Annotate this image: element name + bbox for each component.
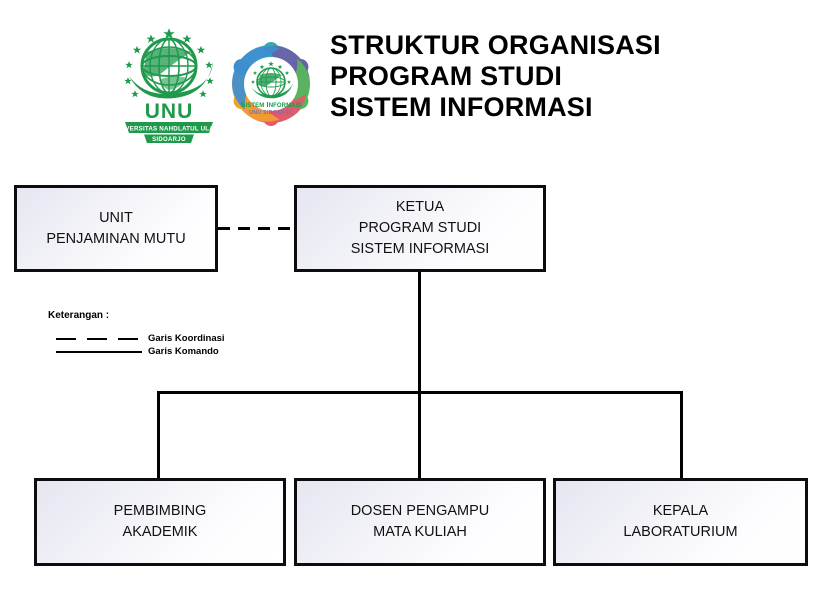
connector-drop-laboraturium bbox=[680, 391, 683, 479]
unu-logo: UNU UNIVERSITAS NAHDLATUL ULAMA SIDOARJO bbox=[113, 22, 225, 144]
node-line: PEMBIMBING bbox=[114, 501, 207, 522]
connector-drop-dosen bbox=[418, 391, 421, 479]
title-line-3: SISTEM INFORMASI bbox=[330, 92, 800, 123]
node-line: PENJAMINAN MUTU bbox=[46, 229, 185, 250]
page-title: STRUKTUR ORGANISASI PROGRAM STUDI SISTEM… bbox=[330, 30, 800, 123]
node-ketua-program-studi[interactable]: KETUA PROGRAM STUDI SISTEM INFORMASI bbox=[294, 185, 546, 272]
node-line: SISTEM INFORMASI bbox=[351, 239, 490, 260]
svg-text:UNU SIDOARJO: UNU SIDOARJO bbox=[249, 110, 293, 116]
legend-row-koordinasi: Garis Koordinasi bbox=[48, 332, 308, 345]
node-line: AKADEMIK bbox=[123, 522, 198, 543]
node-dosen-pengampu-mata-kuliah[interactable]: DOSEN PENGAMPU MATA KULIAH bbox=[294, 478, 546, 566]
sistem-informasi-logo: SISTEM INFORMASI UNU SIDOARJO bbox=[220, 28, 322, 140]
node-line: LABORATURIUM bbox=[623, 522, 737, 543]
node-line: KEPALA bbox=[653, 501, 708, 522]
legend-title: Keterangan : bbox=[48, 310, 308, 321]
node-line: DOSEN PENGAMPU bbox=[351, 501, 490, 522]
header: UNU UNIVERSITAS NAHDLATUL ULAMA SIDOARJO bbox=[0, 0, 827, 160]
svg-text:UNIVERSITAS NAHDLATUL ULAMA: UNIVERSITAS NAHDLATUL ULAMA bbox=[114, 126, 224, 133]
connector-drop-pembimbing bbox=[157, 391, 160, 479]
node-kepala-laboraturium[interactable]: KEPALA LABORATURIUM bbox=[553, 478, 808, 566]
node-unit-penjaminan-mutu[interactable]: UNIT PENJAMINAN MUTU bbox=[14, 185, 218, 272]
legend-label: Garis Koordinasi bbox=[148, 332, 225, 345]
svg-text:UNU: UNU bbox=[145, 100, 194, 123]
solid-line-sample bbox=[56, 351, 142, 353]
title-line-2: PROGRAM STUDI bbox=[330, 61, 800, 92]
title-line-1: STRUKTUR ORGANISASI bbox=[330, 30, 800, 61]
node-line: UNIT bbox=[99, 208, 133, 229]
node-line: KETUA bbox=[396, 197, 444, 218]
node-pembimbing-akademik[interactable]: PEMBIMBING AKADEMIK bbox=[34, 478, 286, 566]
dashed-line-sample bbox=[56, 338, 142, 340]
node-line: PROGRAM STUDI bbox=[359, 218, 481, 239]
node-line: MATA KULIAH bbox=[373, 522, 467, 543]
globe-icon bbox=[142, 39, 196, 93]
svg-text:SIDOARJO: SIDOARJO bbox=[152, 137, 186, 143]
legend: Keterangan : Garis Koordinasi Garis Koma… bbox=[48, 310, 308, 358]
legend-row-komando: Garis Komando bbox=[48, 345, 308, 358]
connector-ketua-trunk bbox=[418, 271, 421, 393]
connector-dashed-koordinasi bbox=[218, 227, 294, 230]
legend-label: Garis Komando bbox=[148, 345, 219, 358]
